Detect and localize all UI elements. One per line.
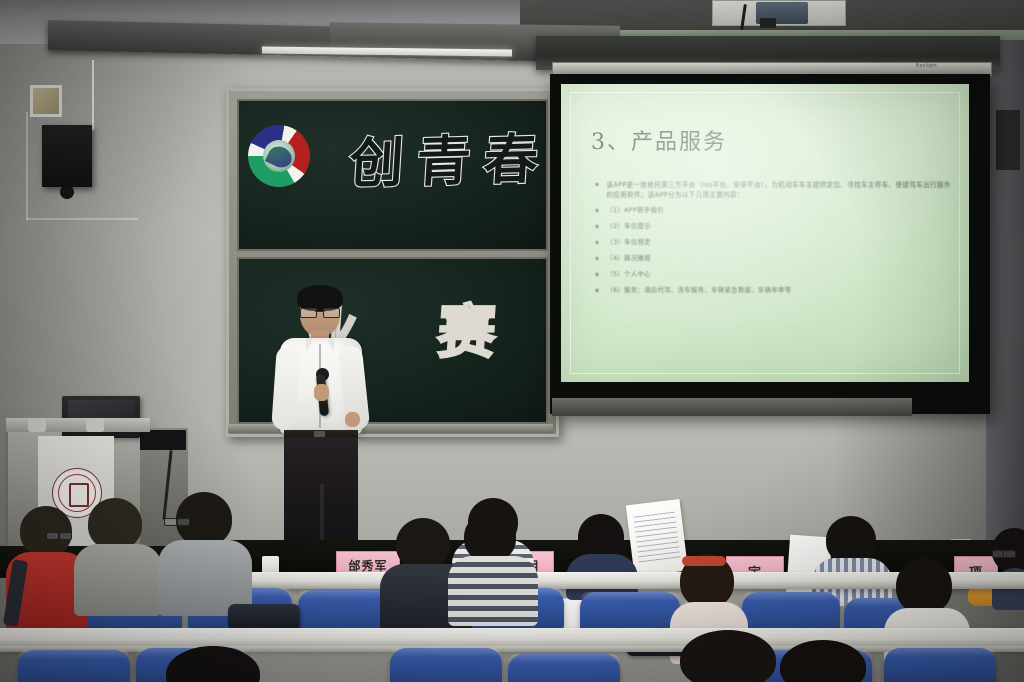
chair-r2-6 [884, 648, 996, 682]
attendee-r1-2 [680, 630, 776, 682]
attendee-body [448, 556, 538, 626]
attendee-r2-3 [158, 492, 250, 608]
attendee-r3-5 [992, 528, 1024, 602]
attendee-glasses-icon [992, 550, 1016, 556]
attendee-glasses-icon [46, 532, 72, 538]
attendee-hair-tie [682, 556, 726, 566]
attendee-r2-2 [74, 498, 160, 610]
attendee-head [166, 646, 260, 682]
attendee-head [396, 518, 450, 570]
attendee-head [826, 516, 876, 564]
attendee-head [88, 498, 142, 550]
attendee-r1-1 [166, 646, 260, 682]
chair-r2-3 [390, 648, 502, 682]
desk-bag-1 [228, 604, 300, 630]
attendee-head [680, 630, 776, 682]
classroom-presentation-photo: 创 青 春 业 赛 Boxlight 3、产品服务 ▪ 该APP是一款依托第三方… [0, 0, 1024, 682]
attendee-head [20, 506, 72, 556]
chair-r2-1 [18, 650, 130, 682]
attendee-head [464, 512, 516, 562]
attendee-head [780, 640, 866, 682]
chair-r2-4 [508, 654, 620, 682]
audience-area: 邰秀军 明 宇 项 [0, 0, 1024, 682]
attendee-glasses-icon [164, 518, 190, 524]
attendee-r1-3 [780, 640, 866, 682]
attendee-r2-5 [448, 512, 536, 618]
attendee-body [74, 544, 162, 616]
attendee-head [896, 558, 952, 614]
